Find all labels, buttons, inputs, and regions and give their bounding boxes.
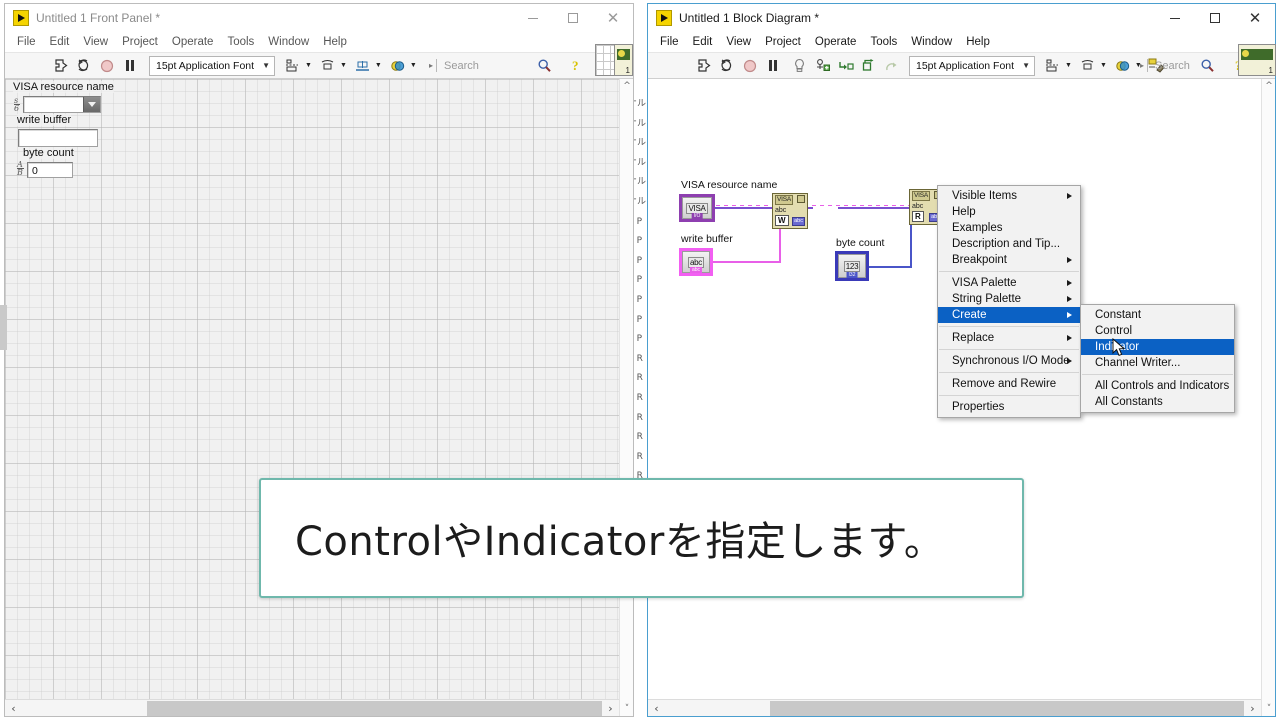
menu-item-label: Indicator [1095, 341, 1139, 353]
submenu-arrow-icon [1067, 257, 1072, 263]
terminal-label: VISA [686, 203, 707, 214]
front-panel-title: Untitled 1 Front Panel * [36, 11, 160, 25]
retain-wire-values-icon[interactable] [812, 56, 833, 76]
context-help-icon[interactable]: ? [566, 56, 587, 76]
chevron-down-icon: ▼ [340, 62, 347, 69]
chevron-down-icon: ▼ [1100, 62, 1107, 69]
reorder-button[interactable]: ▼ [1111, 56, 1142, 76]
terminal-body: abc abc [682, 251, 710, 273]
menu-item-label: Create [952, 309, 987, 321]
terminal-subtype: I/O [692, 213, 703, 219]
labview-vi-icon [13, 10, 29, 26]
submenu-arrow-icon [1067, 358, 1072, 364]
scroll-left-icon[interactable]: ‹ [5, 700, 22, 717]
front-panel-search[interactable]: ▸ Search [429, 56, 479, 76]
font-selector[interactable]: 15pt Application Font ▼ [909, 56, 1035, 76]
distribute-objects-icon [317, 56, 338, 76]
block-diagram-menu-project[interactable]: Project [765, 36, 801, 48]
front-panel-menu-view[interactable]: View [83, 36, 108, 48]
visa-node-top-label: VISA [912, 191, 930, 201]
distribute-objects-button[interactable]: ▼ [1076, 56, 1107, 76]
front-panel-minimize-button[interactable] [513, 4, 553, 32]
menu-item-label: Constant [1095, 309, 1141, 321]
front-panel-hscroll-track[interactable] [22, 701, 602, 716]
front-panel-vertical-scrollbar[interactable]: ^ ˅ [619, 79, 633, 716]
submenu-arrow-icon [1067, 312, 1072, 318]
vi-connector-number: 1 [626, 66, 630, 75]
fp-label-visa-resource-name: VISA resource name [13, 81, 114, 93]
menu-item-label: Properties [952, 401, 1004, 413]
scroll-up-icon[interactable]: ^ [620, 79, 633, 93]
create-submenu-item-channel-writer[interactable]: Channel Writer... [1081, 355, 1234, 371]
front-panel-maximize-button[interactable] [553, 4, 593, 32]
bd-label-visa-resource-name: VISA resource name [681, 179, 777, 191]
write-buffer-field[interactable] [18, 129, 98, 147]
abort-execution-icon[interactable] [96, 56, 117, 76]
block-diagram-horizontal-scrollbar[interactable]: ‹ › [648, 699, 1261, 716]
front-panel-menu-help[interactable]: Help [323, 36, 347, 48]
run-arrow-icon[interactable] [693, 56, 714, 76]
menu-item-label: Control [1095, 325, 1132, 337]
chevron-down-icon: ▼ [305, 62, 312, 69]
context-menu-separator [939, 395, 1079, 396]
labview-vi-icon [656, 10, 672, 26]
distribute-objects-button[interactable]: ▼ [316, 56, 347, 76]
front-panel-horizontal-scrollbar[interactable]: ‹ › [5, 699, 619, 716]
front-panel-menu-file[interactable]: File [17, 36, 36, 48]
byte-count-value: 0 [32, 165, 38, 177]
context-menu-separator [939, 372, 1079, 373]
front-panel-close-button[interactable]: ✕ [593, 4, 633, 32]
visa-node-mode-label: W [775, 215, 789, 226]
reorder-icon [1112, 56, 1133, 76]
bd-label-byte-count: byte count [836, 237, 884, 249]
svg-text:?: ? [572, 58, 579, 73]
visa-resource-name-terminal[interactable]: VISA I/O [679, 194, 715, 222]
context-menu[interactable]: Visible ItemsHelpExamplesDescription and… [937, 185, 1081, 418]
front-panel-left-scroll-thumb[interactable] [0, 305, 7, 350]
align-objects-icon [1042, 56, 1063, 76]
terminal-body: 123 I32 [838, 254, 866, 278]
fp-label-byte-count: byte count [23, 147, 74, 159]
terminal-label: abc [688, 257, 704, 268]
step-over-icon[interactable] [858, 56, 879, 76]
block-diagram-minimize-button[interactable] [1155, 4, 1195, 32]
block-diagram-window-buttons: ✕ [1155, 4, 1275, 32]
create-submenu-separator [1082, 374, 1233, 375]
align-objects-icon [282, 56, 303, 76]
menu-item-label: Breakpoint [952, 254, 1007, 266]
create-submenu-item-indicator[interactable]: Indicator [1081, 339, 1234, 355]
fp-label-write-buffer: write buffer [17, 114, 71, 126]
front-panel-menu-tools[interactable]: Tools [227, 36, 254, 48]
context-menu-item-string-palette[interactable]: String Palette [938, 291, 1080, 307]
caption-box: ControlやIndicatorを指定します。 [259, 478, 1024, 598]
menu-item-label: Visible Items [952, 190, 1017, 202]
reorder-button[interactable]: ▼ [386, 56, 417, 76]
visa-resource-name-dropdown-button[interactable] [83, 97, 100, 112]
create-submenu-item-all-controls-and-indicators[interactable]: All Controls and Indicators [1081, 378, 1234, 394]
submenu-arrow-icon [1067, 193, 1072, 199]
chevron-down-icon: ▼ [410, 62, 417, 69]
menu-item-label: All Controls and Indicators [1095, 380, 1229, 392]
terminal-body: VISA I/O [682, 197, 712, 219]
context-menu-item-help[interactable]: Help [938, 204, 1080, 220]
vi-thumbnail-grid [596, 45, 614, 75]
reorder-icon [387, 56, 408, 76]
search-placeholder: Search [444, 60, 479, 72]
byte-count-field[interactable]: 0 [27, 162, 73, 178]
visa-write-node[interactable]: VISA abc W abc [772, 193, 808, 229]
submenu-arrow-icon [1067, 335, 1072, 341]
context-menu-separator [939, 349, 1079, 350]
submenu-arrow-icon [1067, 296, 1072, 302]
caption-text: ControlやIndicatorを指定します。 [261, 509, 944, 567]
resize-objects-icon [352, 56, 373, 76]
context-menu-item-properties[interactable]: Properties [938, 399, 1080, 415]
block-diagram-menubar[interactable]: FileEditViewProjectOperateToolsWindowHel… [648, 32, 1275, 53]
front-panel-titlebar[interactable]: Untitled 1 Front Panel * ✕ [5, 4, 633, 32]
pause-icon[interactable] [119, 56, 140, 76]
front-panel-menu-project[interactable]: Project [122, 36, 158, 48]
magnifier-icon[interactable] [1197, 56, 1218, 76]
block-diagram-vertical-scrollbar[interactable]: ^ ˅ [1261, 79, 1275, 716]
scroll-right-icon[interactable]: › [602, 700, 619, 717]
menu-item-label: Synchronous I/O Mode [952, 355, 1070, 367]
chevron-down-icon: ▼ [1022, 61, 1030, 70]
context-menu-item-description-and-tip[interactable]: Description and Tip... [938, 236, 1080, 252]
block-diagram-search[interactable]: ▸ Search [1140, 56, 1190, 76]
magnifier-icon[interactable] [534, 56, 555, 76]
block-diagram-close-button[interactable]: ✕ [1235, 4, 1275, 32]
create-submenu-item-constant[interactable]: Constant [1081, 307, 1234, 323]
context-menu-item-examples[interactable]: Examples [938, 220, 1080, 236]
bd-label-write-buffer: write buffer [681, 233, 733, 245]
front-panel-window-buttons: ✕ [513, 4, 633, 32]
block-diagram-title: Untitled 1 Block Diagram * [679, 11, 819, 25]
create-submenu-item-all-constants[interactable]: All Constants [1081, 394, 1234, 410]
menu-item-label: Channel Writer... [1095, 357, 1180, 369]
chevron-down-icon: ▼ [375, 62, 382, 69]
resize-objects-button[interactable]: ▼ [351, 56, 382, 76]
scroll-down-icon[interactable]: ˅ [620, 702, 633, 716]
chevron-down-icon: ▼ [262, 61, 270, 70]
submenu-arrow-icon [1067, 280, 1072, 286]
menu-item-label: Remove and Rewire [952, 378, 1056, 390]
block-diagram-menu-help[interactable]: Help [966, 36, 990, 48]
scroll-up-icon[interactable]: ^ [1262, 79, 1275, 93]
create-submenu[interactable]: ConstantControlIndicatorChannel Writer..… [1080, 304, 1235, 413]
block-diagram-menu-operate[interactable]: Operate [815, 36, 857, 48]
write-buffer-terminal[interactable]: abc abc [679, 248, 713, 276]
front-panel-menu-window[interactable]: Window [268, 36, 309, 48]
front-panel-toolbar[interactable]: 15pt Application Font ▼ ▼ ▼ ▼ [5, 53, 633, 79]
front-panel-window[interactable]: Untitled 1 Front Panel * ✕ FileEditViewP… [4, 3, 634, 717]
context-menu-separator [939, 326, 1079, 327]
numeric-terminal-glyph: AB [17, 161, 24, 176]
scroll-right-icon[interactable]: › [1244, 700, 1261, 717]
block-diagram-menu-view[interactable]: View [726, 36, 751, 48]
front-panel-menu-operate[interactable]: Operate [172, 36, 214, 48]
menu-item-label: Replace [952, 332, 994, 344]
chevron-down-icon: ▼ [1065, 62, 1072, 69]
menu-item-label: All Constants [1095, 396, 1163, 408]
context-menu-item-remove-and-rewire[interactable]: Remove and Rewire [938, 376, 1080, 392]
create-submenu-item-control[interactable]: Control [1081, 323, 1234, 339]
block-diagram-hscroll-track[interactable] [665, 701, 1244, 716]
run-arrow-icon[interactable] [50, 56, 71, 76]
terminal-subtype: abc [690, 267, 702, 273]
context-menu-separator [939, 271, 1079, 272]
visa-resource-name-combo[interactable] [23, 96, 101, 113]
terminal-label: 123 [844, 261, 860, 272]
menu-item-label: Examples [952, 222, 1003, 234]
context-menu-item-visible-items[interactable]: Visible Items [938, 188, 1080, 204]
string-terminal-glyph: s6 [14, 97, 20, 112]
distribute-objects-icon [1077, 56, 1098, 76]
pause-icon[interactable] [762, 56, 783, 76]
scroll-left-icon[interactable]: ‹ [648, 700, 665, 717]
byte-count-terminal[interactable]: 123 I32 [835, 251, 869, 281]
block-diagram-titlebar[interactable]: Untitled 1 Block Diagram * ✕ [648, 4, 1275, 32]
block-diagram-maximize-button[interactable] [1195, 4, 1235, 32]
align-objects-button[interactable]: ▼ [281, 56, 312, 76]
font-selector[interactable]: 15pt Application Font ▼ [149, 56, 275, 76]
visa-node-mid-label: abc [912, 203, 923, 211]
align-objects-button[interactable]: ▼ [1041, 56, 1072, 76]
visa-node-data-terminal: abc [792, 217, 805, 226]
front-panel-canvas[interactable]: VISA resource name s6 write buffer byte … [5, 79, 633, 716]
front-panel-menu-edit[interactable]: Edit [50, 36, 70, 48]
run-continuously-icon[interactable] [73, 56, 94, 76]
front-panel-toolbar-right: ? [533, 56, 588, 76]
context-menu-item-synchronous-i-o-mode[interactable]: Synchronous I/O Mode [938, 353, 1080, 369]
block-diagram-vi-icon-thumbnail[interactable]: 1 [1238, 44, 1276, 76]
wire-byte-count-v[interactable] [910, 222, 912, 268]
block-diagram-toolbar[interactable]: 15pt Application Font ▼ ▼ ▼ ▼ [648, 53, 1275, 79]
search-dot-icon: ▸ [429, 61, 433, 70]
vi-connector-number: 1 [1269, 66, 1273, 75]
block-diagram-hscroll-thumb[interactable] [770, 701, 1244, 716]
step-out-icon[interactable] [881, 56, 902, 76]
visa-node-dup-terminal [797, 195, 805, 203]
run-continuously-icon[interactable] [716, 56, 737, 76]
step-into-icon[interactable] [835, 56, 856, 76]
menu-item-label: Help [952, 206, 976, 218]
front-panel-menubar[interactable]: FileEditViewProjectOperateToolsWindowHel… [5, 32, 633, 53]
font-selector-value: 15pt Application Font [156, 60, 254, 72]
search-dot-icon: ▸ [1140, 61, 1144, 70]
block-diagram-menu-edit[interactable]: Edit [693, 36, 713, 48]
highlight-execution-bulb-icon[interactable] [789, 56, 810, 76]
abort-execution-icon[interactable] [739, 56, 760, 76]
search-placeholder: Search [1155, 60, 1190, 72]
font-selector-value: 15pt Application Font [916, 60, 1014, 72]
context-menu-item-visa-palette[interactable]: VISA Palette [938, 275, 1080, 291]
context-menu-item-replace[interactable]: Replace [938, 330, 1080, 346]
block-diagram-menu-window[interactable]: Window [911, 36, 952, 48]
visa-node-mode-label: R [912, 211, 924, 222]
context-menu-item-create[interactable]: Create [938, 307, 1080, 323]
visa-node-top-label: VISA [775, 195, 793, 205]
menu-item-label: String Palette [952, 293, 1021, 305]
context-menu-item-breakpoint[interactable]: Breakpoint [938, 252, 1080, 268]
terminal-subtype: I32 [847, 272, 858, 278]
block-diagram-menu-tools[interactable]: Tools [870, 36, 897, 48]
block-diagram-menu-file[interactable]: File [660, 36, 679, 48]
screen-root: オルオルオルオルオルオルh Ph Ph Ph Ph Ph Ph Ph Rh Rh… [0, 0, 1280, 720]
menu-item-label: Description and Tip... [952, 238, 1060, 250]
front-panel-hscroll-thumb[interactable] [147, 701, 602, 716]
visa-node-mid-label: abc [775, 207, 786, 215]
front-panel-vi-icon-thumbnail[interactable]: 1 [595, 44, 633, 76]
scroll-down-icon[interactable]: ˅ [1262, 702, 1275, 716]
menu-item-label: VISA Palette [952, 277, 1017, 289]
